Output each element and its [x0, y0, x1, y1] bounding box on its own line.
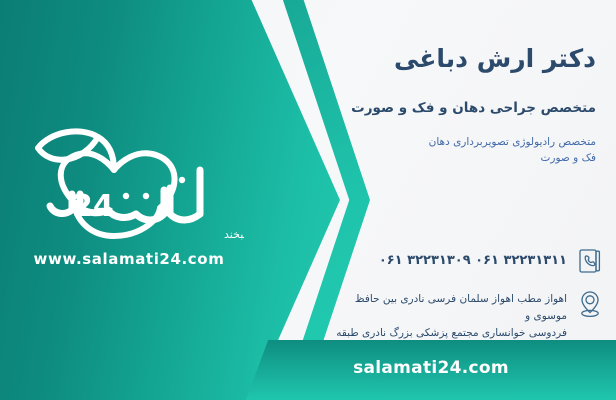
logo-badge-24: 24 — [72, 189, 114, 224]
logo-tagline: به راحتی یک لبخند — [224, 228, 244, 241]
brand-logo: 24 به راحتی یک لبخند www.salamati24.com — [14, 110, 244, 280]
business-card: 24 به راحتی یک لبخند www.salamati24.com … — [0, 0, 616, 400]
salamati24-logo-mark: 24 به راحتی یک لبخند — [14, 110, 244, 250]
specialty-secondary-line-1: متخصص رادیولوژی تصویربرداری دهان — [346, 134, 596, 150]
phone-contact-row: ۳۲۲۳۱۳۱۱ ۰۶۱ ۳۲۲۳۱۳۰۹ ۰۶۱ — [379, 246, 604, 276]
footer-bar: salamati24.com — [246, 340, 616, 400]
address-line-1: اهواز مطب اهواز سلمان فرسی نادری بین حاف… — [335, 291, 567, 325]
doctor-name: دکتر ارش دباغی — [394, 44, 596, 73]
footer-website[interactable]: salamati24.com — [246, 358, 616, 378]
logo-website-url[interactable]: www.salamati24.com — [14, 250, 244, 268]
phone-numbers[interactable]: ۳۲۲۳۱۳۱۱ ۰۶۱ ۳۲۲۳۱۳۰۹ ۰۶۱ — [379, 246, 567, 272]
map-pin-icon — [576, 289, 604, 319]
doctor-specialty-secondary: متخصص رادیولوژی تصویربرداری دهان فک و صو… — [346, 134, 596, 167]
doctor-specialty-primary: متخصص جراحی دهان و فک و صورت — [351, 100, 596, 116]
specialty-secondary-line-2: فک و صورت — [346, 150, 596, 166]
phone-book-icon — [576, 246, 604, 276]
